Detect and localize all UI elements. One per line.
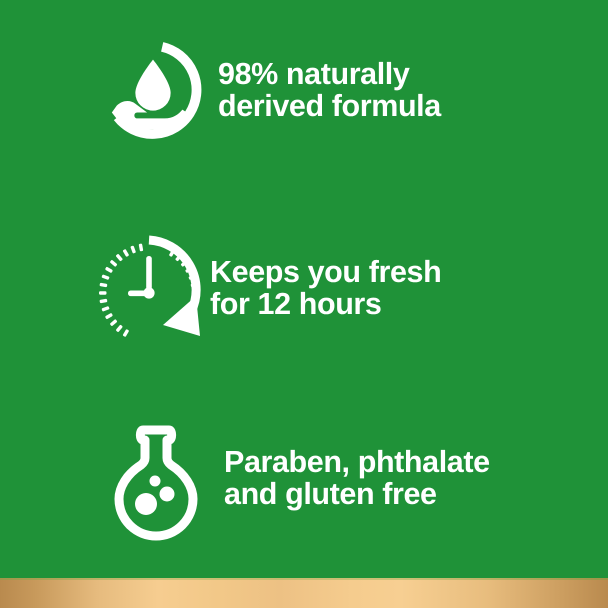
feature-label-free-from: Paraben, phthalate and gluten free — [224, 446, 608, 510]
feature-row-keeps-fresh: Keeps you fresh for 12 hours — [0, 236, 608, 340]
clock-with-arrow-icon — [95, 233, 203, 343]
feature-row-naturally-derived: 98% naturally derived formula — [0, 38, 608, 142]
flask-icon — [110, 424, 202, 532]
gold-accent-band — [0, 578, 608, 608]
feature-label-keeps-fresh: Keeps you fresh for 12 hours — [210, 256, 608, 320]
infographic-panel: 98% naturally derived formula Keeps you … — [0, 0, 608, 608]
feature-row-free-from: Paraben, phthalate and gluten free — [0, 424, 608, 532]
feature-label-naturally-derived: 98% naturally derived formula — [218, 58, 608, 122]
droplet-in-hand-icon — [103, 38, 203, 142]
